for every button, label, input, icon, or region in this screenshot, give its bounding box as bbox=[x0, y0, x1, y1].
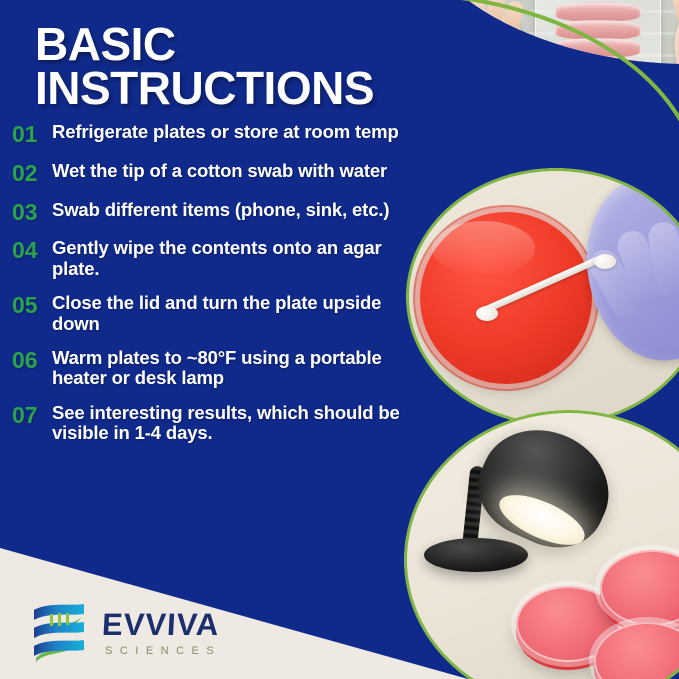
step-number: 07 bbox=[12, 403, 52, 428]
list-item: 04 Gently wipe the contents onto an agar… bbox=[12, 238, 424, 279]
step-text: Warm plates to ~80°F using a portable he… bbox=[52, 348, 424, 389]
step-text: Refrigerate plates or store at room temp bbox=[52, 122, 399, 142]
step-number: 03 bbox=[12, 200, 52, 225]
step-text: Wet the tip of a cotton swab with water bbox=[52, 161, 387, 181]
brand-subtitle: SCIENCES bbox=[105, 645, 221, 657]
step-number: 05 bbox=[12, 293, 52, 318]
list-item: 05 Close the lid and turn the plate upsi… bbox=[12, 293, 424, 334]
poster-content: BASIC INSTRUCTIONS 01 Refrigerate plates… bbox=[0, 0, 679, 679]
instruction-list: 01 Refrigerate plates or store at room t… bbox=[12, 122, 424, 457]
list-item: 06 Warm plates to ~80°F using a portable… bbox=[12, 348, 424, 389]
page-title: BASIC INSTRUCTIONS bbox=[35, 22, 374, 110]
step-text: Close the lid and turn the plate upside … bbox=[52, 293, 424, 334]
step-number: 02 bbox=[12, 161, 52, 186]
brand-wordmark: EVVIVA SCIENCES bbox=[102, 609, 221, 657]
list-item: 02 Wet the tip of a cotton swab with wat… bbox=[12, 161, 424, 186]
step-text: See interesting results, which should be… bbox=[52, 403, 424, 444]
brand-name: EVVIVA bbox=[101, 609, 222, 640]
step-text: Gently wipe the contents onto an agar pl… bbox=[52, 238, 424, 279]
dna-helix-icon bbox=[28, 600, 90, 666]
list-item: 07 See interesting results, which should… bbox=[12, 403, 424, 444]
step-number: 01 bbox=[12, 122, 52, 147]
list-item: 03 Swab different items (phone, sink, et… bbox=[12, 200, 424, 225]
step-number: 04 bbox=[12, 238, 52, 263]
instructions-poster: BASIC INSTRUCTIONS 01 Refrigerate plates… bbox=[0, 0, 679, 679]
list-item: 01 Refrigerate plates or store at room t… bbox=[12, 122, 424, 147]
step-text: Swab different items (phone, sink, etc.) bbox=[52, 200, 389, 220]
step-number: 06 bbox=[12, 348, 52, 373]
brand-logo: EVVIVA SCIENCES bbox=[28, 600, 221, 666]
